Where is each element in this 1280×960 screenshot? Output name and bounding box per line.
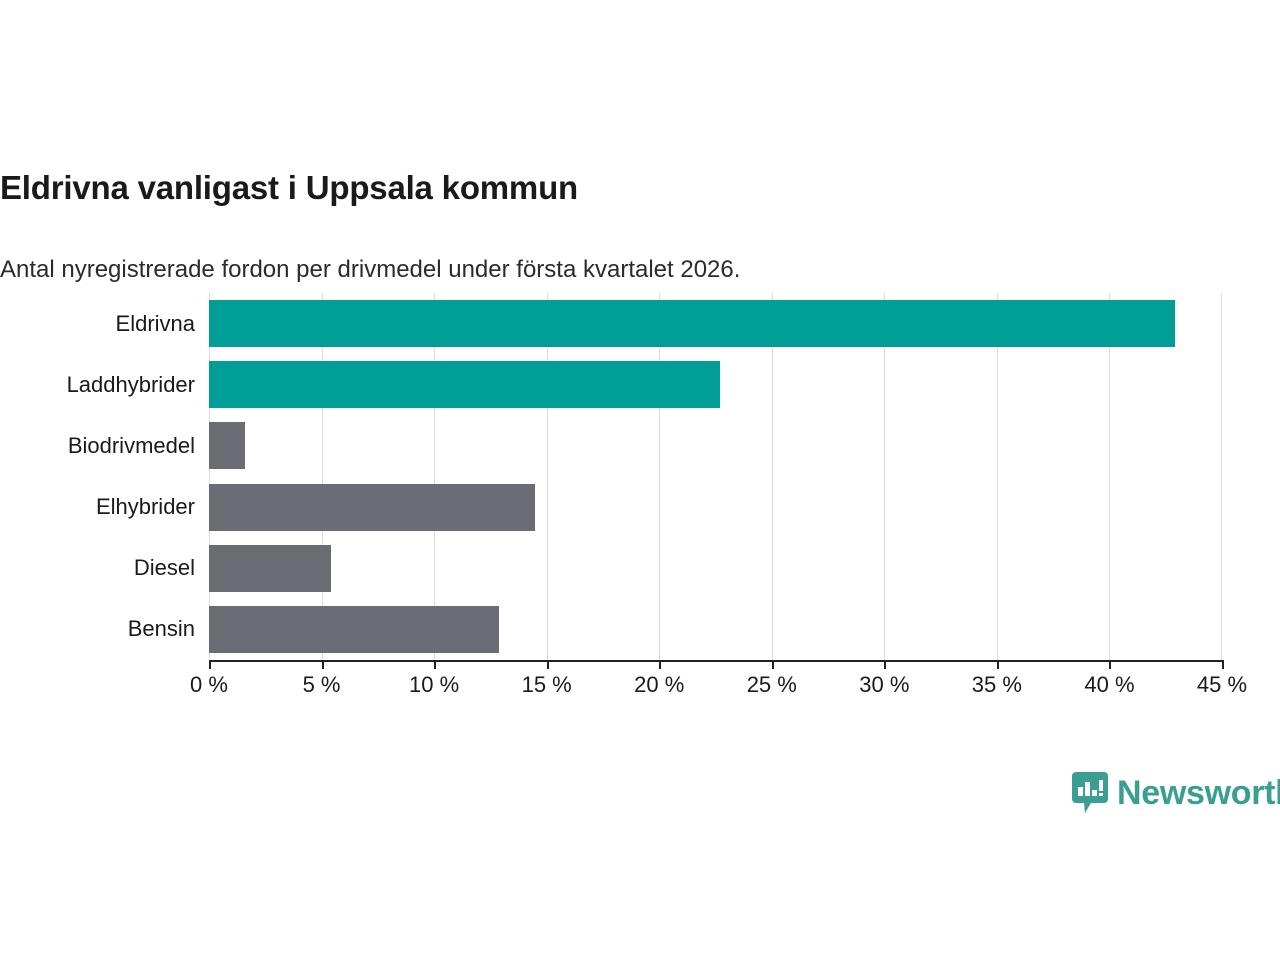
x-tick — [997, 660, 999, 669]
bar-diesel — [209, 545, 331, 592]
bar-row — [209, 477, 1222, 538]
bar-row — [209, 599, 1222, 660]
x-tick — [547, 660, 549, 669]
bar-biodrivmedel — [209, 422, 245, 469]
category-label-bensin: Bensin — [128, 618, 195, 640]
newsworthy-bubble-chart-icon — [1072, 772, 1108, 814]
bar-row — [209, 415, 1222, 476]
x-tick — [434, 660, 436, 669]
x-tick — [209, 660, 211, 669]
bar-eldrivna — [209, 300, 1175, 347]
bar-row — [209, 293, 1222, 354]
chart-page: Eldrivna vanligast i Uppsala kommun Anta… — [0, 0, 1280, 960]
category-label-laddhybrider: Laddhybrider — [67, 374, 195, 396]
x-tick — [1109, 660, 1111, 669]
bar-laddhybrider — [209, 361, 720, 408]
bar-row — [209, 354, 1222, 415]
x-tick-label: 25 % — [747, 672, 797, 698]
bar-chart: 0 %5 %10 %15 %20 %25 %30 %35 %40 %45 % E… — [0, 290, 1280, 690]
x-axis-line — [209, 660, 1223, 662]
x-tick-label: 45 % — [1197, 672, 1247, 698]
plot-area — [209, 293, 1222, 660]
x-tick-label: 40 % — [1084, 672, 1134, 698]
bar-row — [209, 538, 1222, 599]
category-label-biodrivmedel: Biodrivmedel — [68, 435, 195, 457]
x-tick — [322, 660, 324, 669]
x-tick-label: 15 % — [522, 672, 572, 698]
x-tick-label: 20 % — [634, 672, 684, 698]
category-label-eldrivna: Eldrivna — [116, 313, 195, 335]
category-label-diesel: Diesel — [134, 557, 195, 579]
bar-bensin — [209, 606, 499, 653]
bar-elhybrider — [209, 484, 535, 531]
newsworthy-logo-text: Newsworthy — [1117, 776, 1280, 810]
x-tick-label: 30 % — [859, 672, 909, 698]
x-tick-label: 5 % — [303, 672, 341, 698]
x-tick-label: 0 % — [190, 672, 228, 698]
x-tick-label: 10 % — [409, 672, 459, 698]
x-tick — [1222, 660, 1224, 669]
bar-series — [209, 293, 1222, 660]
x-tick — [659, 660, 661, 669]
chart-subtitle: Antal nyregistrerade fordon per drivmede… — [0, 256, 1260, 285]
newsworthy-logo: Newsworthy — [1072, 772, 1280, 814]
x-tick — [884, 660, 886, 669]
category-label-elhybrider: Elhybrider — [96, 496, 195, 518]
x-tick-label: 35 % — [972, 672, 1022, 698]
page-title: Eldrivna vanligast i Uppsala kommun — [0, 170, 1260, 206]
x-tick — [772, 660, 774, 669]
